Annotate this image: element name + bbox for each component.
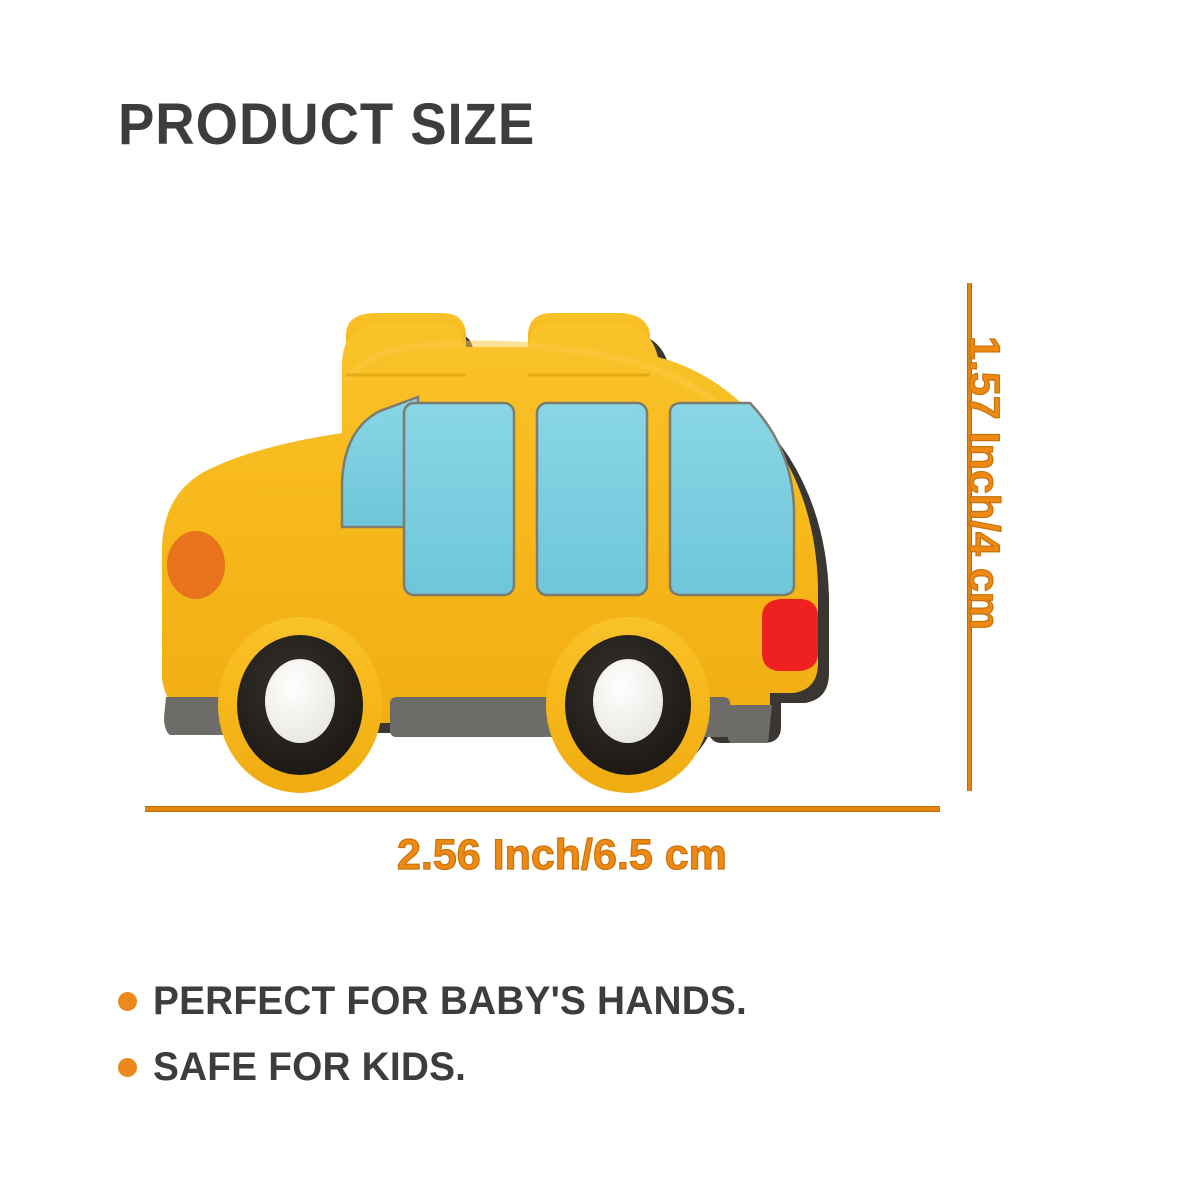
window-3	[537, 403, 647, 595]
feature-text: PERFECT FOR BABY'S HANDS.	[153, 981, 747, 1021]
bullet-icon	[118, 992, 137, 1011]
window-rear	[670, 403, 794, 595]
bus-windows	[342, 397, 794, 595]
height-dimension-label: 1.57 Inch/4 cm	[962, 336, 1005, 630]
bullet-icon	[118, 1058, 137, 1077]
width-dimension-label: 2.56 Inch/6.5 cm	[397, 834, 727, 877]
feature-text: SAFE FOR KIDS.	[153, 1047, 466, 1087]
product-image	[110, 265, 950, 795]
wheel-rear	[546, 617, 710, 793]
window-2	[404, 403, 514, 595]
wheel-front	[218, 617, 382, 793]
feature-item-0: PERFECT FOR BABY'S HANDS.	[118, 978, 1018, 1024]
feature-item-1: SAFE FOR KIDS.	[118, 1044, 1018, 1090]
feature-list: PERFECT FOR BABY'S HANDS. SAFE FOR KIDS.	[118, 978, 1018, 1110]
width-dimension-line	[145, 806, 940, 812]
taillight	[762, 599, 818, 671]
school-bus-illustration	[110, 265, 950, 795]
page-title: PRODUCT SIZE	[118, 96, 535, 154]
